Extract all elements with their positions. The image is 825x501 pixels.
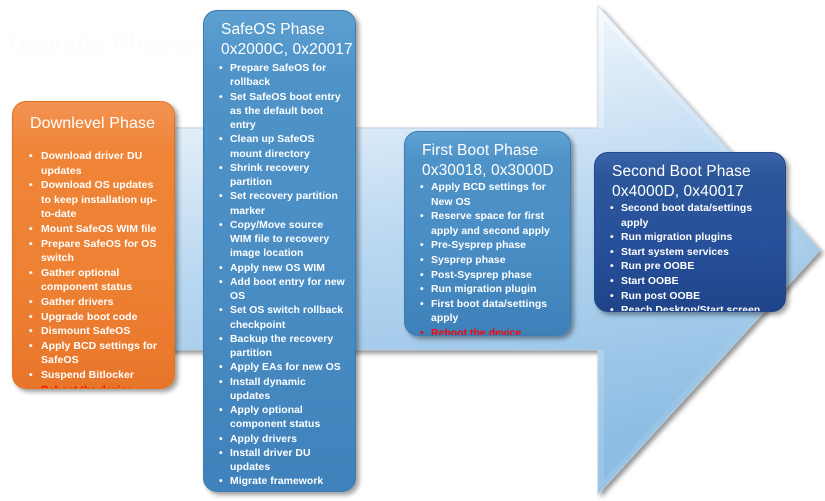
bullet-icon: • — [610, 202, 614, 217]
bullet-icon: • — [420, 283, 424, 298]
step-text: Pre-Sysprep phase — [431, 240, 526, 251]
step-text: Migrate framework (Full) — [230, 476, 323, 492]
step-text: Install driver DU updates — [230, 448, 311, 473]
bullet-icon: • — [610, 231, 614, 246]
step-text: Gather drivers — [41, 296, 113, 308]
bullet-icon: • — [219, 433, 223, 447]
bullet-icon: • — [219, 133, 223, 147]
step-text: Backup the recovery partition — [230, 334, 333, 359]
list-item: •Migrate framework (Full) — [215, 475, 345, 492]
phase-title: Second Boot Phase — [612, 162, 775, 182]
list-item: •Reserve space for first apply and secon… — [416, 210, 560, 239]
list-item: •Run migration plugins — [606, 231, 775, 246]
list-item-reboot: •Reboot the device — [24, 383, 164, 390]
phase-codes: 0x30018, 0x3000D — [422, 161, 560, 181]
list-item: •Apply new OS WIM — [215, 262, 345, 276]
list-item: •Apply drivers — [215, 433, 345, 447]
bullet-icon: • — [420, 181, 424, 196]
bullet-icon: • — [420, 254, 424, 269]
bullet-icon: • — [420, 210, 424, 225]
step-text: Reserve space for first apply and second… — [431, 211, 550, 237]
bullet-icon: • — [29, 149, 33, 164]
step-text: Download OS updates to keep installation… — [41, 179, 157, 220]
phase-title: First Boot Phase — [422, 141, 560, 161]
list-item: •Install dynamic updates — [215, 376, 345, 405]
step-text: Shrink recovery partition — [230, 163, 309, 188]
bullet-icon: • — [219, 475, 223, 489]
step-text: Set SafeOS boot entry as the default boo… — [230, 92, 341, 132]
phase-codes: 0x2000C, 0x20017 — [221, 40, 345, 60]
list-item: •Pre-Sysprep phase — [416, 239, 560, 254]
step-text: Upgrade boot code — [41, 311, 138, 323]
list-item: •Second boot data/settings apply — [606, 202, 775, 231]
bullet-icon: • — [29, 222, 33, 237]
step-text: Reboot the device — [41, 384, 132, 390]
bullet-icon: • — [610, 246, 614, 261]
bullet-icon: • — [610, 304, 614, 312]
step-text: Mount SafeOS WIM file — [41, 223, 156, 235]
list-item: •Backup the recovery partition — [215, 333, 345, 362]
bullet-icon: • — [610, 275, 614, 290]
bullet-icon: • — [29, 339, 33, 354]
list-item: •Download driver DU updates — [24, 149, 164, 178]
bullet-icon: • — [219, 376, 223, 390]
list-item: •Apply BCD settings for SafeOS — [24, 339, 164, 368]
bullet-icon: • — [29, 383, 33, 390]
list-item: •Apply optional component status — [215, 404, 345, 433]
step-text: Gather optional component status — [41, 267, 132, 294]
step-text: Run pre OOBE — [621, 261, 694, 272]
list-item: •Sysprep phase — [416, 254, 560, 269]
list-item: •Run post OOBE — [606, 290, 775, 305]
step-text: Run migration plugin — [431, 284, 536, 295]
bullet-icon: • — [420, 327, 424, 336]
list-item: •First boot data/settings apply — [416, 298, 560, 327]
list-item: •Start system services — [606, 246, 775, 261]
step-text: Install dynamic updates — [230, 377, 306, 402]
list-item: •Apply EAs for new OS — [215, 361, 345, 375]
bullet-icon: • — [219, 361, 223, 375]
phase-title: SafeOS Phase — [221, 20, 345, 40]
bullet-icon: • — [219, 162, 223, 176]
list-item: •Clean up SafeOS mount directory — [215, 133, 345, 162]
phase-card-second-boot[interactable]: Second Boot Phase 0x4000D, 0x40017 •Seco… — [594, 152, 786, 312]
list-item: •Suspend Bitlocker — [24, 368, 164, 383]
list-item: •Prepare SafeOS for rollback — [215, 62, 345, 91]
bullet-icon: • — [29, 266, 33, 281]
list-item: •Dismount SafeOS — [24, 324, 164, 339]
phase-step-list: •Apply BCD settings for New OS •Reserve … — [416, 181, 560, 336]
list-item-reboot: •Reboot the device — [416, 327, 560, 336]
phase-card-downlevel[interactable]: Downlevel Phase •Download driver DU upda… — [12, 101, 175, 389]
diagram-canvas: Upgrade Phases Downlevel Phase — [0, 0, 825, 501]
list-item: •Download OS updates to keep installatio… — [24, 178, 164, 222]
list-item: •Reach Desktop/Start screen — [606, 304, 775, 312]
step-text: Set recovery partition marker — [230, 191, 338, 216]
bullet-icon: • — [29, 295, 33, 310]
bullet-icon: • — [420, 269, 424, 284]
bullet-icon: • — [420, 239, 424, 254]
step-text: Apply BCD settings for SafeOS — [41, 340, 157, 367]
step-text: Prepare SafeOS for OS switch — [41, 238, 156, 265]
step-text: Apply new OS WIM — [230, 263, 325, 274]
bullet-icon: • — [219, 62, 223, 76]
list-item: •Add boot entry for new OS — [215, 276, 345, 305]
bullet-icon: • — [219, 262, 223, 276]
bullet-icon: • — [29, 237, 33, 252]
list-item: •Shrink recovery partition — [215, 162, 345, 191]
phase-title: Downlevel Phase — [30, 114, 164, 133]
bullet-icon: • — [219, 333, 223, 347]
list-item: •Install driver DU updates — [215, 447, 345, 476]
bullet-icon: • — [219, 304, 223, 318]
step-text: Apply BCD settings for New OS — [431, 182, 546, 208]
step-text: Suspend Bitlocker — [41, 369, 134, 381]
list-item: •Apply BCD settings for New OS — [416, 181, 560, 210]
list-item: •Mount SafeOS WIM file — [24, 222, 164, 237]
bullet-icon: • — [219, 447, 223, 461]
step-text: Sysprep phase — [431, 255, 506, 266]
list-item: •Run migration plugin — [416, 283, 560, 298]
step-text: Copy/Move source WIM file to recovery im… — [230, 220, 329, 260]
step-text: Download driver DU updates — [41, 150, 142, 177]
phase-step-list: •Second boot data/settings apply •Run mi… — [606, 202, 775, 312]
bullet-icon: • — [420, 298, 424, 313]
phase-card-first-boot[interactable]: First Boot Phase 0x30018, 0x3000D •Apply… — [404, 131, 571, 336]
list-item: •Copy/Move source WIM file to recovery i… — [215, 219, 345, 262]
step-text: Reboot the device — [431, 328, 521, 336]
step-text: Start system services — [621, 247, 729, 258]
bullet-icon: • — [29, 324, 33, 339]
step-text: Add boot entry for new OS — [230, 277, 345, 302]
step-text: Apply drivers — [230, 434, 297, 445]
step-text: Run post OOBE — [621, 291, 700, 302]
list-item: •Gather drivers — [24, 295, 164, 310]
list-item: •Start OOBE — [606, 275, 775, 290]
phase-step-list: •Prepare SafeOS for rollback •Set SafeOS… — [215, 62, 345, 492]
bullet-icon: • — [219, 219, 223, 233]
step-text: Dismount SafeOS — [41, 325, 130, 337]
step-text: Prepare SafeOS for rollback — [230, 63, 326, 88]
list-item: •Set SafeOS boot entry as the default bo… — [215, 91, 345, 134]
step-text: Reach Desktop/Start screen — [621, 305, 760, 312]
step-text: Clean up SafeOS mount directory — [230, 134, 314, 159]
step-text: Run migration plugins — [621, 232, 732, 243]
step-text: Start OOBE — [621, 276, 679, 287]
step-text: Apply optional component status — [230, 405, 320, 430]
bullet-icon: • — [610, 290, 614, 305]
step-text: Second boot data/settings apply — [621, 203, 752, 229]
phase-step-list: •Download driver DU updates •Download OS… — [24, 149, 164, 389]
bullet-icon: • — [610, 260, 614, 275]
bullet-icon: • — [219, 276, 223, 290]
list-item: •Gather optional component status — [24, 266, 164, 295]
bullet-icon: • — [29, 178, 33, 193]
list-item: •Set recovery partition marker — [215, 190, 345, 219]
step-text: Post-Sysprep phase — [431, 270, 532, 281]
phase-card-safeos[interactable]: SafeOS Phase 0x2000C, 0x20017 •Prepare S… — [203, 10, 356, 492]
list-item: •Post-Sysprep phase — [416, 269, 560, 284]
bullet-icon: • — [219, 91, 223, 105]
bullet-icon: • — [219, 404, 223, 418]
bullet-icon: • — [219, 190, 223, 204]
step-text: First boot data/settings apply — [431, 299, 547, 325]
step-text: Apply EAs for new OS — [230, 362, 341, 373]
step-text: Set OS switch rollback checkpoint — [230, 305, 343, 330]
phase-codes: 0x4000D, 0x40017 — [612, 182, 775, 202]
bullet-icon: • — [29, 368, 33, 383]
list-item: •Prepare SafeOS for OS switch — [24, 237, 164, 266]
list-item: •Upgrade boot code — [24, 310, 164, 325]
list-item: •Set OS switch rollback checkpoint — [215, 304, 345, 333]
list-item: •Run pre OOBE — [606, 260, 775, 275]
bullet-icon: • — [29, 310, 33, 325]
